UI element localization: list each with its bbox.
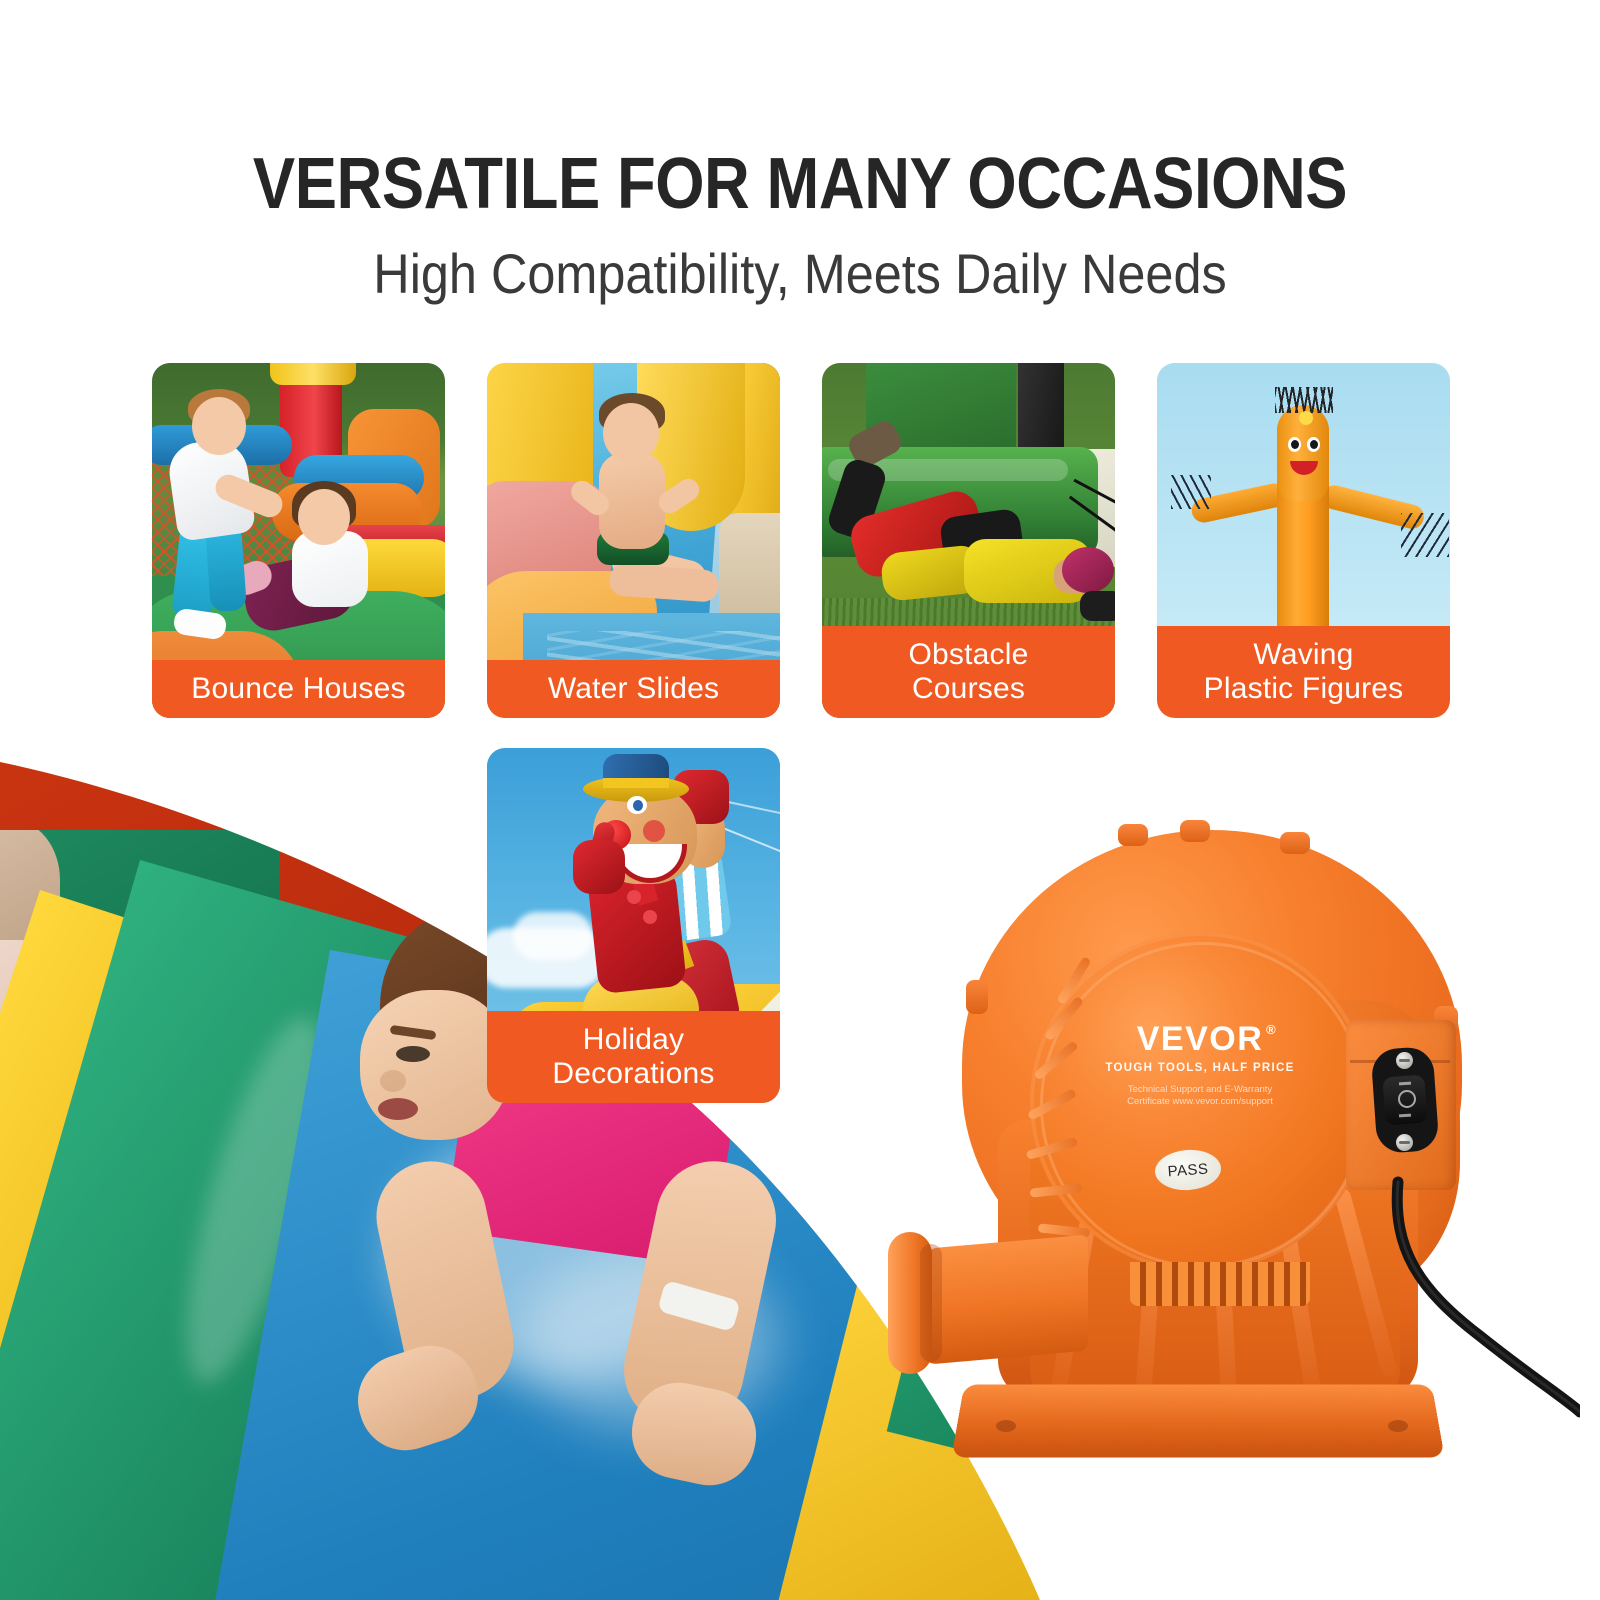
registered-trademark-icon: ® <box>1266 1022 1277 1037</box>
use-case-label-text: Water Slides <box>548 672 719 706</box>
support-info: Technical Support and E-WarrantyCertific… <box>1070 1084 1330 1108</box>
use-case-label-water-slides: Water Slides <box>487 660 780 718</box>
product-image-air-blower: VEVOR® TOUGH TOOLS, HALF PRICE Technical… <box>880 820 1580 1580</box>
use-case-card-bounce-houses[interactable]: Bounce Houses <box>152 363 445 718</box>
use-case-label-waving-plastic-figures: WavingPlastic Figures <box>1157 626 1450 718</box>
use-case-label-bounce-houses: Bounce Houses <box>152 660 445 718</box>
air-outlet <box>890 1230 1080 1380</box>
use-case-card-holiday-decorations[interactable]: HolidayDecorations <box>487 748 780 1103</box>
switch-screw-bottom <box>1396 1134 1413 1151</box>
use-case-label-text: HolidayDecorations <box>552 1023 714 1091</box>
use-case-card-water-slides[interactable]: Water Slides <box>487 363 780 718</box>
page-title: VERSATILE FOR MANY OCCASIONS <box>96 146 1504 222</box>
use-case-label-text: Bounce Houses <box>191 672 405 706</box>
use-case-card-waving-plastic-figures[interactable]: WavingPlastic Figures <box>1157 363 1450 718</box>
use-case-card-obstacle-courses[interactable]: ObstacleCourses <box>822 363 1115 718</box>
base-mounting-hole <box>1388 1420 1408 1432</box>
switch-screw-top <box>1396 1052 1413 1069</box>
use-case-label-holiday-decorations: HolidayDecorations <box>487 1011 780 1103</box>
outlet-tube <box>918 1235 1088 1366</box>
product-infographic: VERSATILE FOR MANY OCCASIONS High Compat… <box>0 0 1600 1600</box>
exhaust-vent-slots <box>1130 1262 1310 1306</box>
mounting-base-plate <box>951 1384 1444 1457</box>
use-case-label-obstacle-courses: ObstacleCourses <box>822 626 1115 718</box>
use-case-label-text: ObstacleCourses <box>909 638 1029 706</box>
outlet-lip <box>920 1244 942 1362</box>
brand-label: VEVOR® TOUGH TOOLS, HALF PRICE Technical… <box>1070 1020 1330 1108</box>
page-subtitle: High Compatibility, Meets Daily Needs <box>80 244 1520 304</box>
vevor-logo: VEVOR® <box>1137 1020 1264 1059</box>
base-mounting-hole <box>996 1420 1016 1432</box>
brand-tagline: TOUGH TOOLS, HALF PRICE <box>1070 1062 1330 1074</box>
use-case-label-text: WavingPlastic Figures <box>1204 638 1404 706</box>
